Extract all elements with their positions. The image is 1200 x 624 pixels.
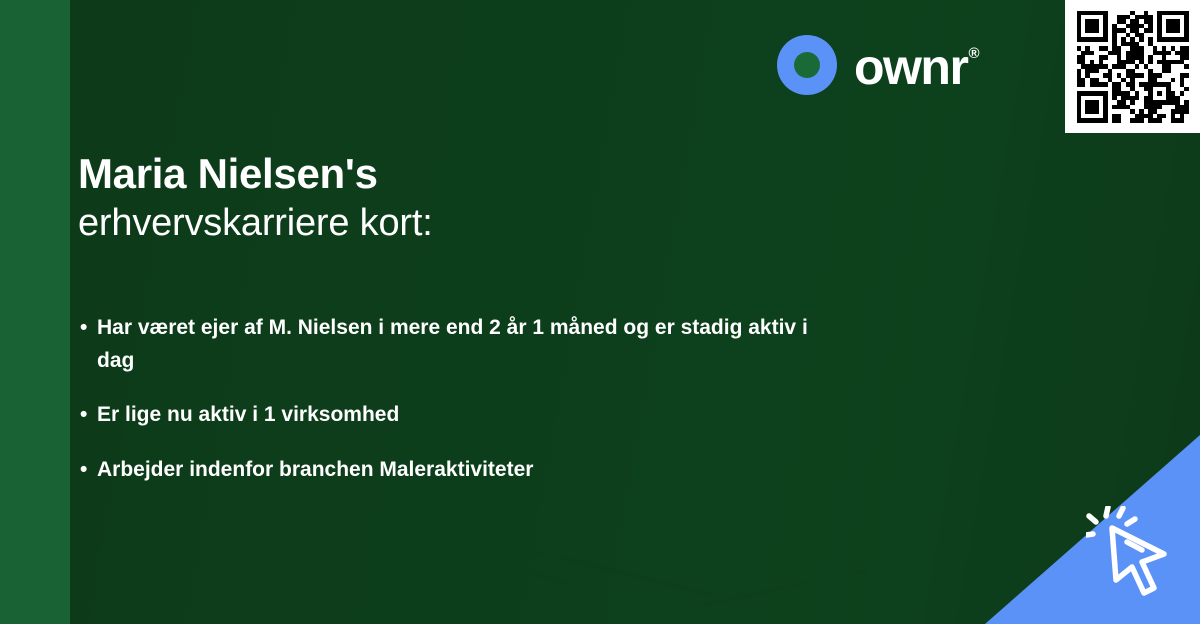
list-item: • Arbejder indenfor branchen Maleraktivi…: [80, 454, 840, 487]
ownr-wordmark-text: ownr: [854, 39, 967, 95]
list-item-text: Har været ejer af M. Nielsen i mere end …: [97, 312, 840, 377]
list-item-text: Er lige nu aktiv i 1 virksomhed: [97, 399, 840, 432]
career-summary-list: • Har været ejer af M. Nielsen i mere en…: [80, 312, 840, 508]
ownr-circle-logo-icon: [776, 34, 838, 96]
bullet-marker-icon: •: [80, 454, 97, 487]
page-title: Maria Nielsen's erhvervskarriere kort:: [78, 150, 433, 247]
bullet-marker-icon: •: [80, 312, 97, 345]
bullet-marker-icon: •: [80, 399, 97, 432]
business-career-card: ownr® Maria Nielsen's erhvervskarriere k…: [0, 0, 1200, 624]
ownr-wordmark: ownr®: [854, 42, 979, 92]
list-item: • Har været ejer af M. Nielsen i mere en…: [80, 312, 840, 377]
list-item: • Er lige nu aktiv i 1 virksomhed: [80, 399, 840, 432]
page-title-line2: erhvervskarriere kort:: [78, 201, 433, 247]
page-title-line1: Maria Nielsen's: [78, 150, 433, 197]
qr-code[interactable]: [1065, 0, 1200, 133]
list-item-text: Arbejder indenfor branchen Maleraktivite…: [97, 454, 840, 487]
qr-code-grid: [1077, 11, 1189, 123]
click-cursor-icon: [1086, 506, 1190, 610]
ownr-logo: ownr®: [776, 34, 979, 96]
registered-mark: ®: [968, 45, 979, 62]
